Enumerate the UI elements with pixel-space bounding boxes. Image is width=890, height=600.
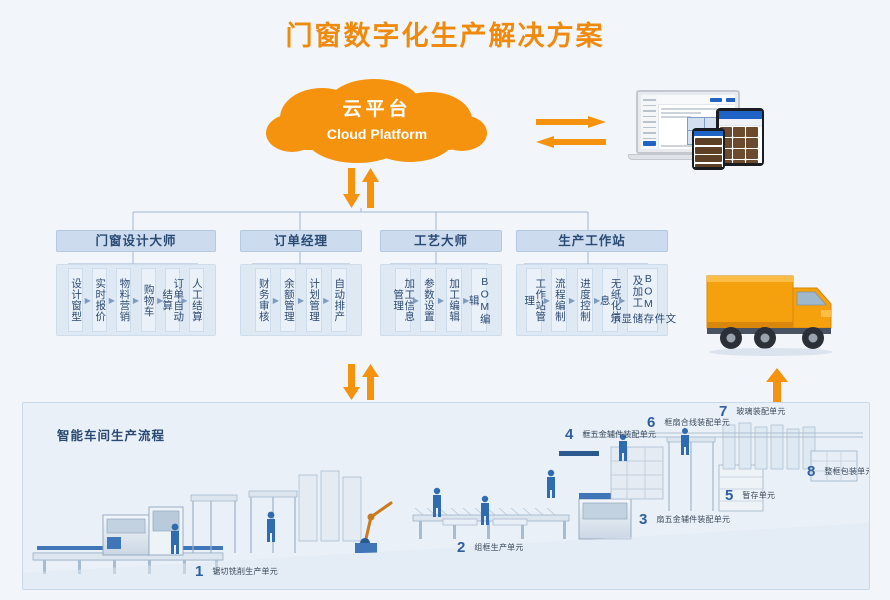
module-item-storage-bom[interactable]: BOM及加工 文件存储显示 [627,268,658,332]
module-item[interactable]: 购物车 [141,268,156,332]
module-item[interactable]: 实时报价 [92,268,107,332]
module-item[interactable]: 财务审核 [255,268,271,332]
flow-separator-icon: ▶ [544,296,550,305]
module-item[interactable]: BOM编辑 [471,268,487,332]
module-item[interactable]: 设计窗型 [68,268,83,332]
module-item[interactable]: 工作站管理 [526,268,542,332]
tablet-subbar [719,119,762,126]
arrow-cloud-to-devices [528,112,606,154]
flow-separator-icon: ▶ [298,296,304,305]
module-item-line: 文件存储显示 [609,311,675,328]
unit-name: 暂存单元 [742,490,775,501]
cloud-labels: 云平台 Cloud Platform [262,98,492,144]
cloud-title-en: Cloud Platform [262,124,492,144]
module-item[interactable]: 余额管理 [280,268,296,332]
module-item-line: BOM及加工 [631,273,653,311]
cloud-title-cn: 云平台 [262,98,492,122]
flow-separator-icon: ▶ [619,296,625,305]
arrow-workshop-to-truck [764,368,790,404]
workshop-unit-label[interactable]: 8 整框包装单元 [803,463,870,480]
diagram-canvas: 门窗数字化生产解决方案 云平台 Cloud Platform [0,0,890,600]
flow-separator-icon: ▶ [85,296,91,305]
smart-workshop-panel: 智能车间生产流程 [22,402,870,590]
unit-name: 扇五金辅件装配单元 [656,514,730,525]
unit-number: 2 [453,539,469,556]
workshop-unit-label[interactable]: 4 框五金辅件装配单元 [561,426,656,443]
flow-separator-icon: ▶ [323,296,329,305]
module-item[interactable]: 加工编辑 [446,268,462,332]
phone-device [692,128,725,170]
unit-number: 3 [635,511,651,528]
flow-separator-icon: ▶ [181,296,187,305]
unit-number: 5 [721,487,737,504]
phone-list [695,138,722,167]
workshop-unit-label[interactable]: 5 暂存单元 [721,487,775,504]
unit-name: 玻璃装配单元 [736,406,785,417]
flow-separator-icon: ▶ [109,296,115,305]
module-item[interactable]: 订单自动结算 [165,268,180,332]
unit-number: 4 [561,426,577,443]
module-header[interactable]: 生产工作站 [516,230,668,252]
phone-screen [694,131,723,167]
module-header[interactable]: 门窗设计大师 [56,230,216,252]
flow-separator-icon: ▶ [438,296,444,305]
phone-header-bar [694,131,723,136]
tablet-product-grid [720,127,761,163]
flow-separator-icon: ▶ [413,296,419,305]
module-item[interactable]: 加工信息管理 [395,268,411,332]
module-items: 设计窗型 ▶ 实时报价 ▶ 物料营销 ▶ 购物车 ▶ 订单自动结算 ▶ 人工结算 [56,264,216,336]
module-items: 加工信息管理 ▶ 参数设置 ▶ 加工编辑 ▶ BOM编辑 [380,264,502,336]
workshop-unit-label[interactable]: 7 玻璃装配单元 [715,403,786,420]
module-group-design-master[interactable]: 门窗设计大师 设计窗型 ▶ 实时报价 ▶ 物料营销 ▶ 购物车 ▶ 订单自动结算… [56,230,216,336]
flow-separator-icon: ▶ [569,296,575,305]
multi-device-mockup [628,88,788,170]
module-item[interactable]: 进度控制 [577,268,593,332]
workshop-unit-label[interactable]: 1 锯切铣削生产单元 [191,563,278,580]
workshop-unit-label[interactable]: 2 组框生产单元 [453,539,524,556]
unit-name: 整框包装单元 [824,466,870,477]
module-group-production-workstation[interactable]: 生产工作站 工作站管理 ▶ 流程编制 ▶ 进度控制 ▶ 无纸化信息 ▶ BOM及… [516,230,668,336]
cloud-platform-node: 云平台 Cloud Platform [262,78,492,170]
page-title: 门窗数字化生产解决方案 [0,14,890,53]
unit-name: 锯切铣削生产单元 [212,566,278,577]
module-item[interactable]: 人工结算 [189,268,204,332]
tablet-header-bar [719,111,762,119]
module-items: 财务审核 ▶ 余额管理 ▶ 计划管理 ▶ 自动排产 [240,264,362,336]
laptop-action-button [643,141,656,146]
unit-number: 8 [803,463,819,480]
module-item[interactable]: 计划管理 [306,268,322,332]
flow-separator-icon: ▶ [133,296,139,305]
module-header[interactable]: 订单经理 [240,230,362,252]
workshop-unit-label[interactable]: 3 扇五金辅件装配单元 [635,511,730,528]
module-item[interactable]: 参数设置 [420,268,436,332]
module-group-craft-master[interactable]: 工艺大师 加工信息管理 ▶ 参数设置 ▶ 加工编辑 ▶ BOM编辑 [380,230,502,336]
laptop-toolbar [658,95,735,105]
flow-separator-icon: ▶ [273,296,279,305]
arrow-modules-to-workshop [338,364,384,400]
module-items: 工作站管理 ▶ 流程编制 ▶ 进度控制 ▶ 无纸化信息 ▶ BOM及加工 文件存… [516,264,668,336]
arrow-cloud-to-modules [338,168,384,208]
delivery-truck [705,258,855,363]
module-item[interactable]: 自动排产 [331,268,347,332]
unit-number: 6 [643,414,659,431]
unit-number: 7 [715,403,731,420]
module-item[interactable]: 物料营销 [116,268,131,332]
unit-number: 1 [191,563,207,580]
module-header[interactable]: 工艺大师 [380,230,502,252]
unit-name: 组框生产单元 [474,542,523,553]
module-group-order-manager[interactable]: 订单经理 财务审核 ▶ 余额管理 ▶ 计划管理 ▶ 自动排产 [240,230,362,336]
module-item[interactable]: 流程编制 [551,268,567,332]
